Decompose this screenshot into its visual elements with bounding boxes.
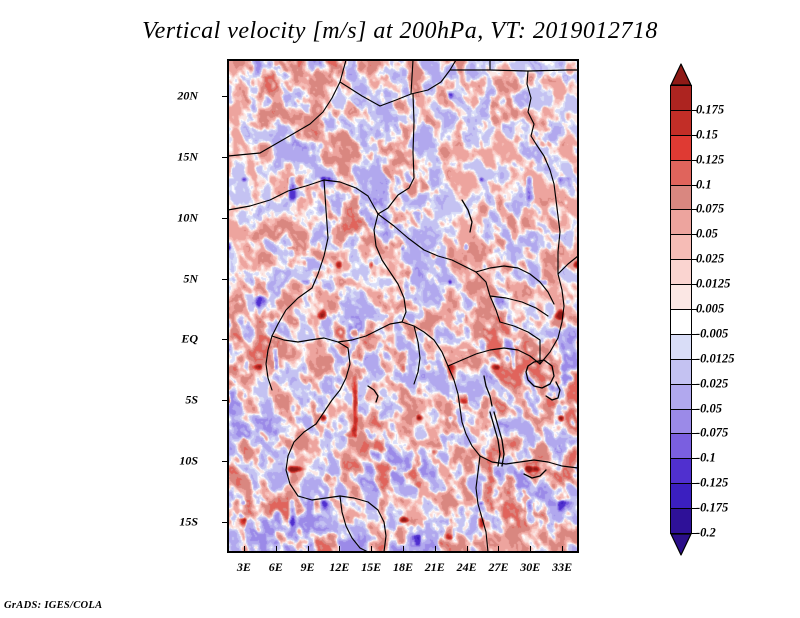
- y-axis-tick: [222, 157, 228, 158]
- colorbar-tick-label: 0.1: [696, 177, 712, 192]
- colorbar-swatch: [670, 458, 692, 484]
- x-axis-tick: [339, 546, 340, 552]
- colorbar-swatch: [670, 334, 692, 360]
- colorbar-tick-label: -0.125: [696, 476, 728, 491]
- colorbar-tick-label: -0.025: [696, 376, 728, 391]
- colorbar-swatch: [670, 284, 692, 310]
- x-axis-label-24e: 24E: [457, 560, 477, 575]
- colorbar-tick-label: 0.005: [696, 302, 724, 317]
- y-axis-label-10n: 10N: [0, 210, 206, 225]
- colorbar-swatch: [670, 384, 692, 410]
- colorbar-tick-mark: [692, 160, 697, 161]
- x-axis-tick: [498, 546, 499, 552]
- x-axis-label-30e: 30E: [520, 560, 540, 575]
- x-axis-tick: [403, 546, 404, 552]
- x-axis-tick: [371, 546, 372, 552]
- colorbar-tick-mark: [692, 508, 697, 509]
- y-axis-tick: [222, 339, 228, 340]
- colorbar-tick-label: -0.2: [696, 526, 716, 541]
- colorbar-tick-label: 0.175: [696, 102, 724, 117]
- x-axis-label-6e: 6E: [269, 560, 283, 575]
- colorbar-tick-label: 0.075: [696, 202, 724, 217]
- y-axis-tick: [222, 522, 228, 523]
- colorbar-tick-label: -0.005: [696, 326, 728, 341]
- colorbar-swatch: [670, 85, 692, 111]
- y-axis-label-15n: 15N: [0, 150, 206, 165]
- colorbar-swatch: [670, 259, 692, 285]
- colorbar-tick-label: 0.025: [696, 252, 724, 267]
- colorbar-swatch: [670, 483, 692, 509]
- grads-credit: GrADS: IGES/COLA: [4, 600, 102, 611]
- colorbar-tick-mark: [692, 185, 697, 186]
- x-axis-tick: [562, 546, 563, 552]
- colorbar-tick-label: -0.1: [696, 451, 716, 466]
- y-axis-tick: [222, 279, 228, 280]
- colorbar-swatch: [670, 160, 692, 186]
- colorbar-tick-label: 0.15: [696, 127, 718, 142]
- colorbar-tick-mark: [692, 409, 697, 410]
- colorbar-tick-label: 0.125: [696, 152, 724, 167]
- colorbar-top-arrow: [670, 63, 692, 85]
- colorbar-swatch: [670, 135, 692, 161]
- colorbar-swatch: [670, 234, 692, 260]
- x-axis-tick: [308, 546, 309, 552]
- colorbar-swatch: [670, 359, 692, 385]
- colorbar-swatch: [670, 309, 692, 335]
- colorbar-tick-label: 0.0125: [696, 277, 730, 292]
- y-axis-tick: [222, 400, 228, 401]
- colorbar-tick-label: -0.075: [696, 426, 728, 441]
- y-axis-label-20n: 20N: [0, 89, 206, 104]
- colorbar-tick-label: -0.0125: [696, 351, 735, 366]
- colorbar-swatch: [670, 508, 692, 534]
- x-axis-label-18e: 18E: [393, 560, 413, 575]
- colorbar-tick-mark: [692, 433, 697, 434]
- country-borders-overlay: [228, 60, 578, 552]
- y-axis-tick: [222, 461, 228, 462]
- colorbar-swatch: [670, 185, 692, 211]
- x-axis-label-9e: 9E: [301, 560, 315, 575]
- y-axis-label-10s: 10S: [0, 453, 206, 468]
- colorbar-swatch: [670, 409, 692, 435]
- x-axis-label-3e: 3E: [237, 560, 251, 575]
- colorbar-tick-label: 0.05: [696, 227, 718, 242]
- x-axis-label-33e: 33E: [552, 560, 572, 575]
- colorbar-tick-label: -0.175: [696, 501, 728, 516]
- x-axis-tick: [435, 546, 436, 552]
- colorbar-tick-mark: [692, 135, 697, 136]
- colorbar-tick-mark: [692, 259, 697, 260]
- page-title: Vertical velocity [m/s] at 200hPa, VT: 2…: [0, 18, 800, 45]
- x-axis-label-12e: 12E: [329, 560, 349, 575]
- colorbar-tick-mark: [692, 309, 697, 310]
- y-axis-label-15s: 15S: [0, 514, 206, 529]
- y-axis-label-5s: 5S: [0, 393, 206, 408]
- y-axis-label-5n: 5N: [0, 271, 206, 286]
- x-axis-label-21e: 21E: [425, 560, 445, 575]
- colorbar-tick-label: -0.05: [696, 401, 722, 416]
- x-axis-tick: [276, 546, 277, 552]
- colorbar-tick-mark: [692, 384, 697, 385]
- x-axis-tick: [467, 546, 468, 552]
- map-plot-area: [228, 60, 578, 552]
- colorbar-swatch: [670, 433, 692, 459]
- x-axis-label-15e: 15E: [361, 560, 381, 575]
- colorbar-tick-mark: [692, 458, 697, 459]
- y-axis-label-eq: EQ: [0, 332, 206, 347]
- colorbar: [670, 63, 692, 555]
- colorbar-swatch: [670, 209, 692, 235]
- colorbar-tick-mark: [692, 533, 697, 534]
- colorbar-tick-mark: [692, 234, 697, 235]
- x-axis-tick: [244, 546, 245, 552]
- colorbar-tick-mark: [692, 110, 697, 111]
- colorbar-tick-mark: [692, 209, 697, 210]
- x-axis-tick: [530, 546, 531, 552]
- colorbar-tick-mark: [692, 284, 697, 285]
- colorbar-tick-mark: [692, 483, 697, 484]
- colorbar-tick-mark: [692, 359, 697, 360]
- x-axis-label-27e: 27E: [488, 560, 508, 575]
- colorbar-tick-mark: [692, 334, 697, 335]
- y-axis-tick: [222, 96, 228, 97]
- colorbar-bottom-arrow: [670, 533, 692, 555]
- colorbar-swatch: [670, 110, 692, 136]
- y-axis-tick: [222, 218, 228, 219]
